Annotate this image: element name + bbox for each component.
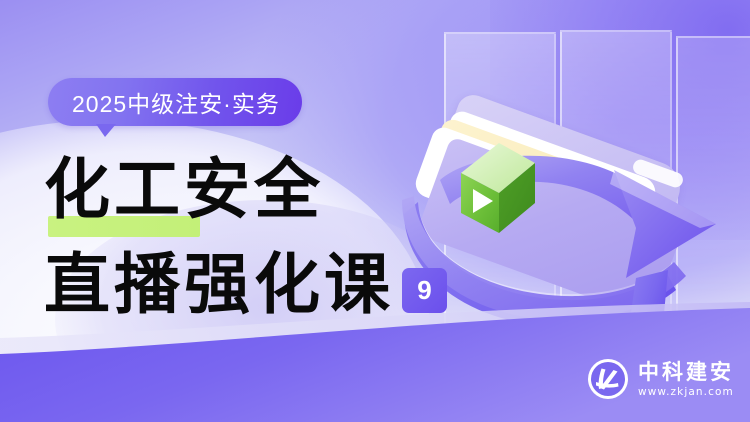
poster-text-content: 2025中级注安·实务 化工安全 直播强化课 9 中科建安 www.zkjan.… — [0, 0, 750, 422]
episode-number: 9 — [417, 275, 431, 306]
course-category-badge-tail — [96, 124, 116, 137]
brand-name: 中科建安 — [638, 360, 734, 384]
course-promo-poster: 2025中级注安·实务 化工安全 直播强化课 9 中科建安 www.zkjan.… — [0, 0, 750, 422]
brand-url: www.zkjan.com — [638, 385, 734, 399]
course-category-badge: 2025中级注安·实务 — [48, 78, 302, 126]
episode-number-badge: 9 — [402, 268, 447, 313]
headline-line-1: 化工安全 — [44, 150, 324, 228]
zkjan-circle-logo-icon — [587, 358, 629, 400]
course-category-label: 2025中级注安·实务 — [72, 85, 280, 119]
headline-line-2: 直播强化课 — [44, 245, 394, 323]
brand-text-block: 中科建安 www.zkjan.com — [638, 360, 734, 399]
brand-logo: 中科建安 www.zkjan.com — [587, 358, 734, 400]
